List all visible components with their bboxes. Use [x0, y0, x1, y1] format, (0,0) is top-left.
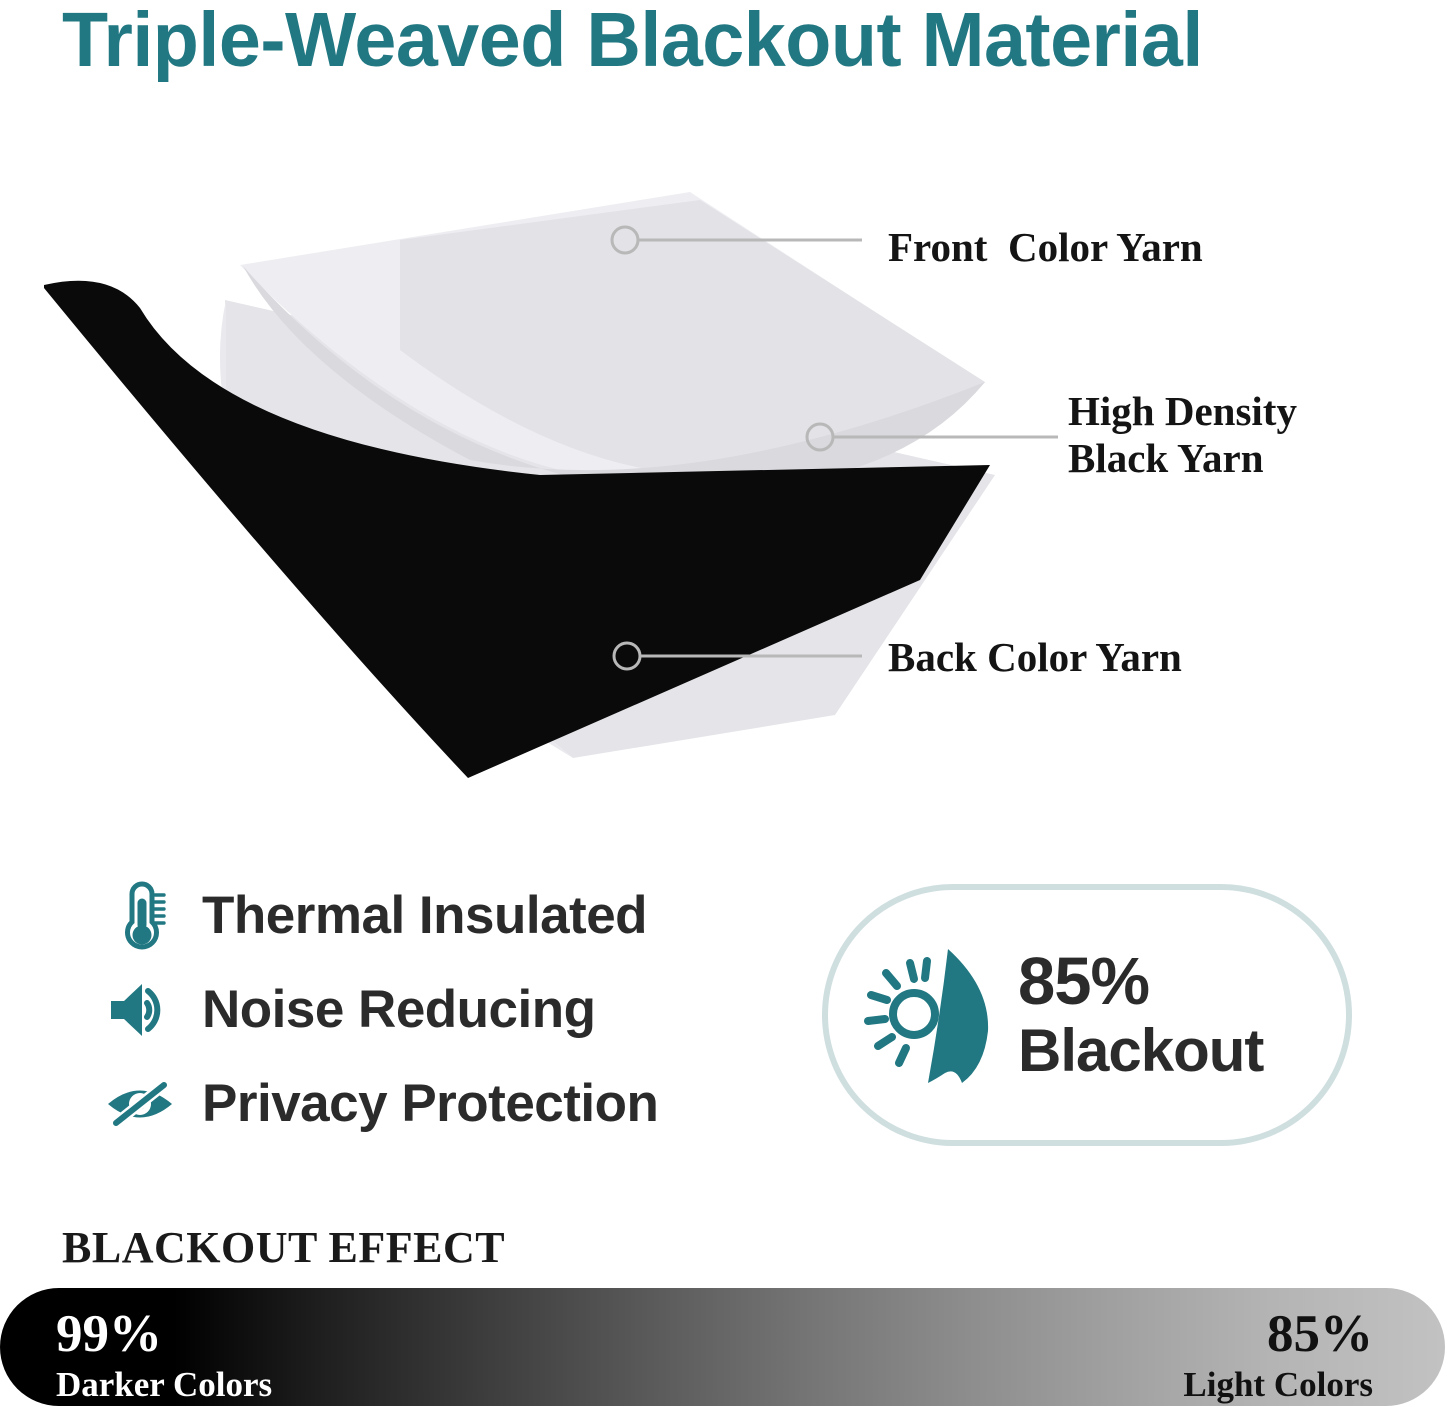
page-title: Triple-Weaved Blackout Material — [62, 0, 1375, 86]
effect-darker-colors-group: 99% Darker Colors — [56, 1306, 272, 1406]
callout-label-front-color-yarn: Front Color Yarn — [888, 224, 1203, 271]
speaker-icon — [104, 972, 176, 1048]
effect-light-colors-label: Light Colors — [1183, 1364, 1373, 1406]
badge-text-group: 85% Blackout — [1018, 946, 1263, 1084]
feature-item-thermal-insulated: Thermal Insulated — [104, 872, 744, 960]
thermometer-icon — [104, 878, 176, 954]
effect-light-colors-group: 85% Light Colors — [1183, 1306, 1373, 1406]
feature-label-thermal-insulated: Thermal Insulated — [202, 886, 647, 946]
effect-light-colors-percent: 85% — [1183, 1306, 1373, 1362]
feature-label-privacy-protection: Privacy Protection — [202, 1074, 658, 1134]
callout-label-back-color-yarn: Back Color Yarn — [888, 634, 1182, 681]
feature-item-noise-reducing: Noise Reducing — [104, 966, 744, 1054]
badge-percent-value: 85% — [1018, 946, 1263, 1018]
feature-label-noise-reducing: Noise Reducing — [202, 980, 596, 1040]
callout-label-high-density-black-yarn: High Density Black Yarn — [1068, 388, 1297, 482]
effect-darker-colors-label: Darker Colors — [56, 1364, 272, 1406]
blackout-percentage-badge: 85% Blackout — [822, 884, 1352, 1146]
badge-percent-label: Blackout — [1018, 1018, 1263, 1084]
sun-curtain-icon — [856, 940, 1006, 1090]
effect-darker-colors-percent: 99% — [56, 1306, 272, 1362]
feature-list: Thermal Insulated Noise Reducing — [104, 872, 744, 1154]
blackout-effect-heading: BLACKOUT EFFECT — [62, 1222, 505, 1274]
feature-item-privacy-protection: Privacy Protection — [104, 1060, 744, 1148]
eye-slash-icon — [104, 1066, 176, 1142]
